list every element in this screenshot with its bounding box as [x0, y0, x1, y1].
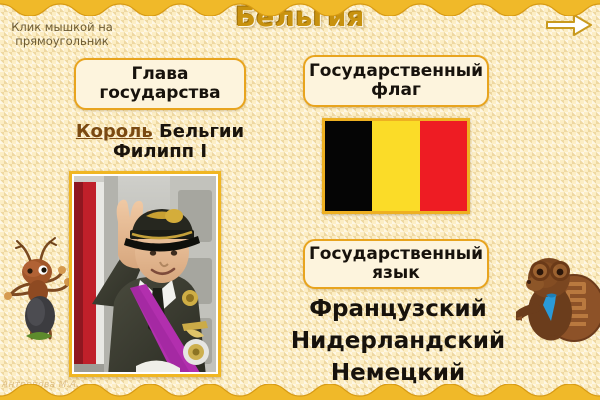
- flag-band-red: [420, 121, 467, 211]
- monarch-photo: [74, 176, 216, 372]
- slide-root: Бельгия Клик мышкой на прямоугольник Гла…: [0, 0, 600, 400]
- head-of-state-label-line-2: государства: [99, 83, 220, 103]
- language-item: Французский: [276, 293, 520, 325]
- next-arrow-icon[interactable]: [546, 12, 592, 38]
- head-of-state-label: Глава государства: [76, 65, 244, 103]
- state-language-label-line-2: язык: [372, 263, 420, 283]
- watermark: Антропова М.А.: [2, 380, 79, 390]
- hint-line-1: Клик мышкой на: [0, 20, 127, 34]
- state-flag-label: Государственный флаг: [305, 62, 487, 100]
- language-item: Нидерландский: [276, 325, 520, 357]
- monarch-photo-illustration: [74, 176, 216, 372]
- flag-band-black: [325, 121, 372, 211]
- head-of-state-label-box[interactable]: Глава государства: [74, 58, 246, 110]
- language-item: Немецкий: [276, 357, 520, 389]
- monarch-title-link[interactable]: Король: [76, 121, 153, 142]
- language-list: ФранцузскийНидерландскийНемецкий: [276, 293, 520, 389]
- monarch-photo-frame[interactable]: [69, 171, 221, 377]
- ant-mascot-icon: [2, 232, 72, 342]
- state-language-label-box[interactable]: Государственный язык: [303, 239, 489, 289]
- monarch-name: Филипп I: [60, 142, 260, 162]
- hint-line-2: прямоугольник: [0, 34, 127, 48]
- head-of-state-label-line-1: Глава: [132, 64, 189, 84]
- flag-band-yellow: [372, 121, 419, 211]
- turtle-mascot-icon: [516, 250, 600, 342]
- monarch-info: Король Бельгии Филипп I: [60, 122, 260, 162]
- monarch-title-line: Король Бельгии: [60, 122, 260, 142]
- monarch-country: Бельгии: [159, 121, 244, 142]
- state-flag-label-line-1: Государственный: [309, 61, 483, 81]
- belgium-flag[interactable]: [322, 118, 470, 214]
- state-flag-label-box[interactable]: Государственный флаг: [303, 55, 489, 107]
- state-language-label-line-1: Государственный: [309, 244, 483, 264]
- instruction-hint: Клик мышкой на прямоугольник: [0, 20, 127, 48]
- state-flag-label-line-2: флаг: [371, 80, 421, 100]
- state-language-label: Государственный язык: [305, 245, 487, 283]
